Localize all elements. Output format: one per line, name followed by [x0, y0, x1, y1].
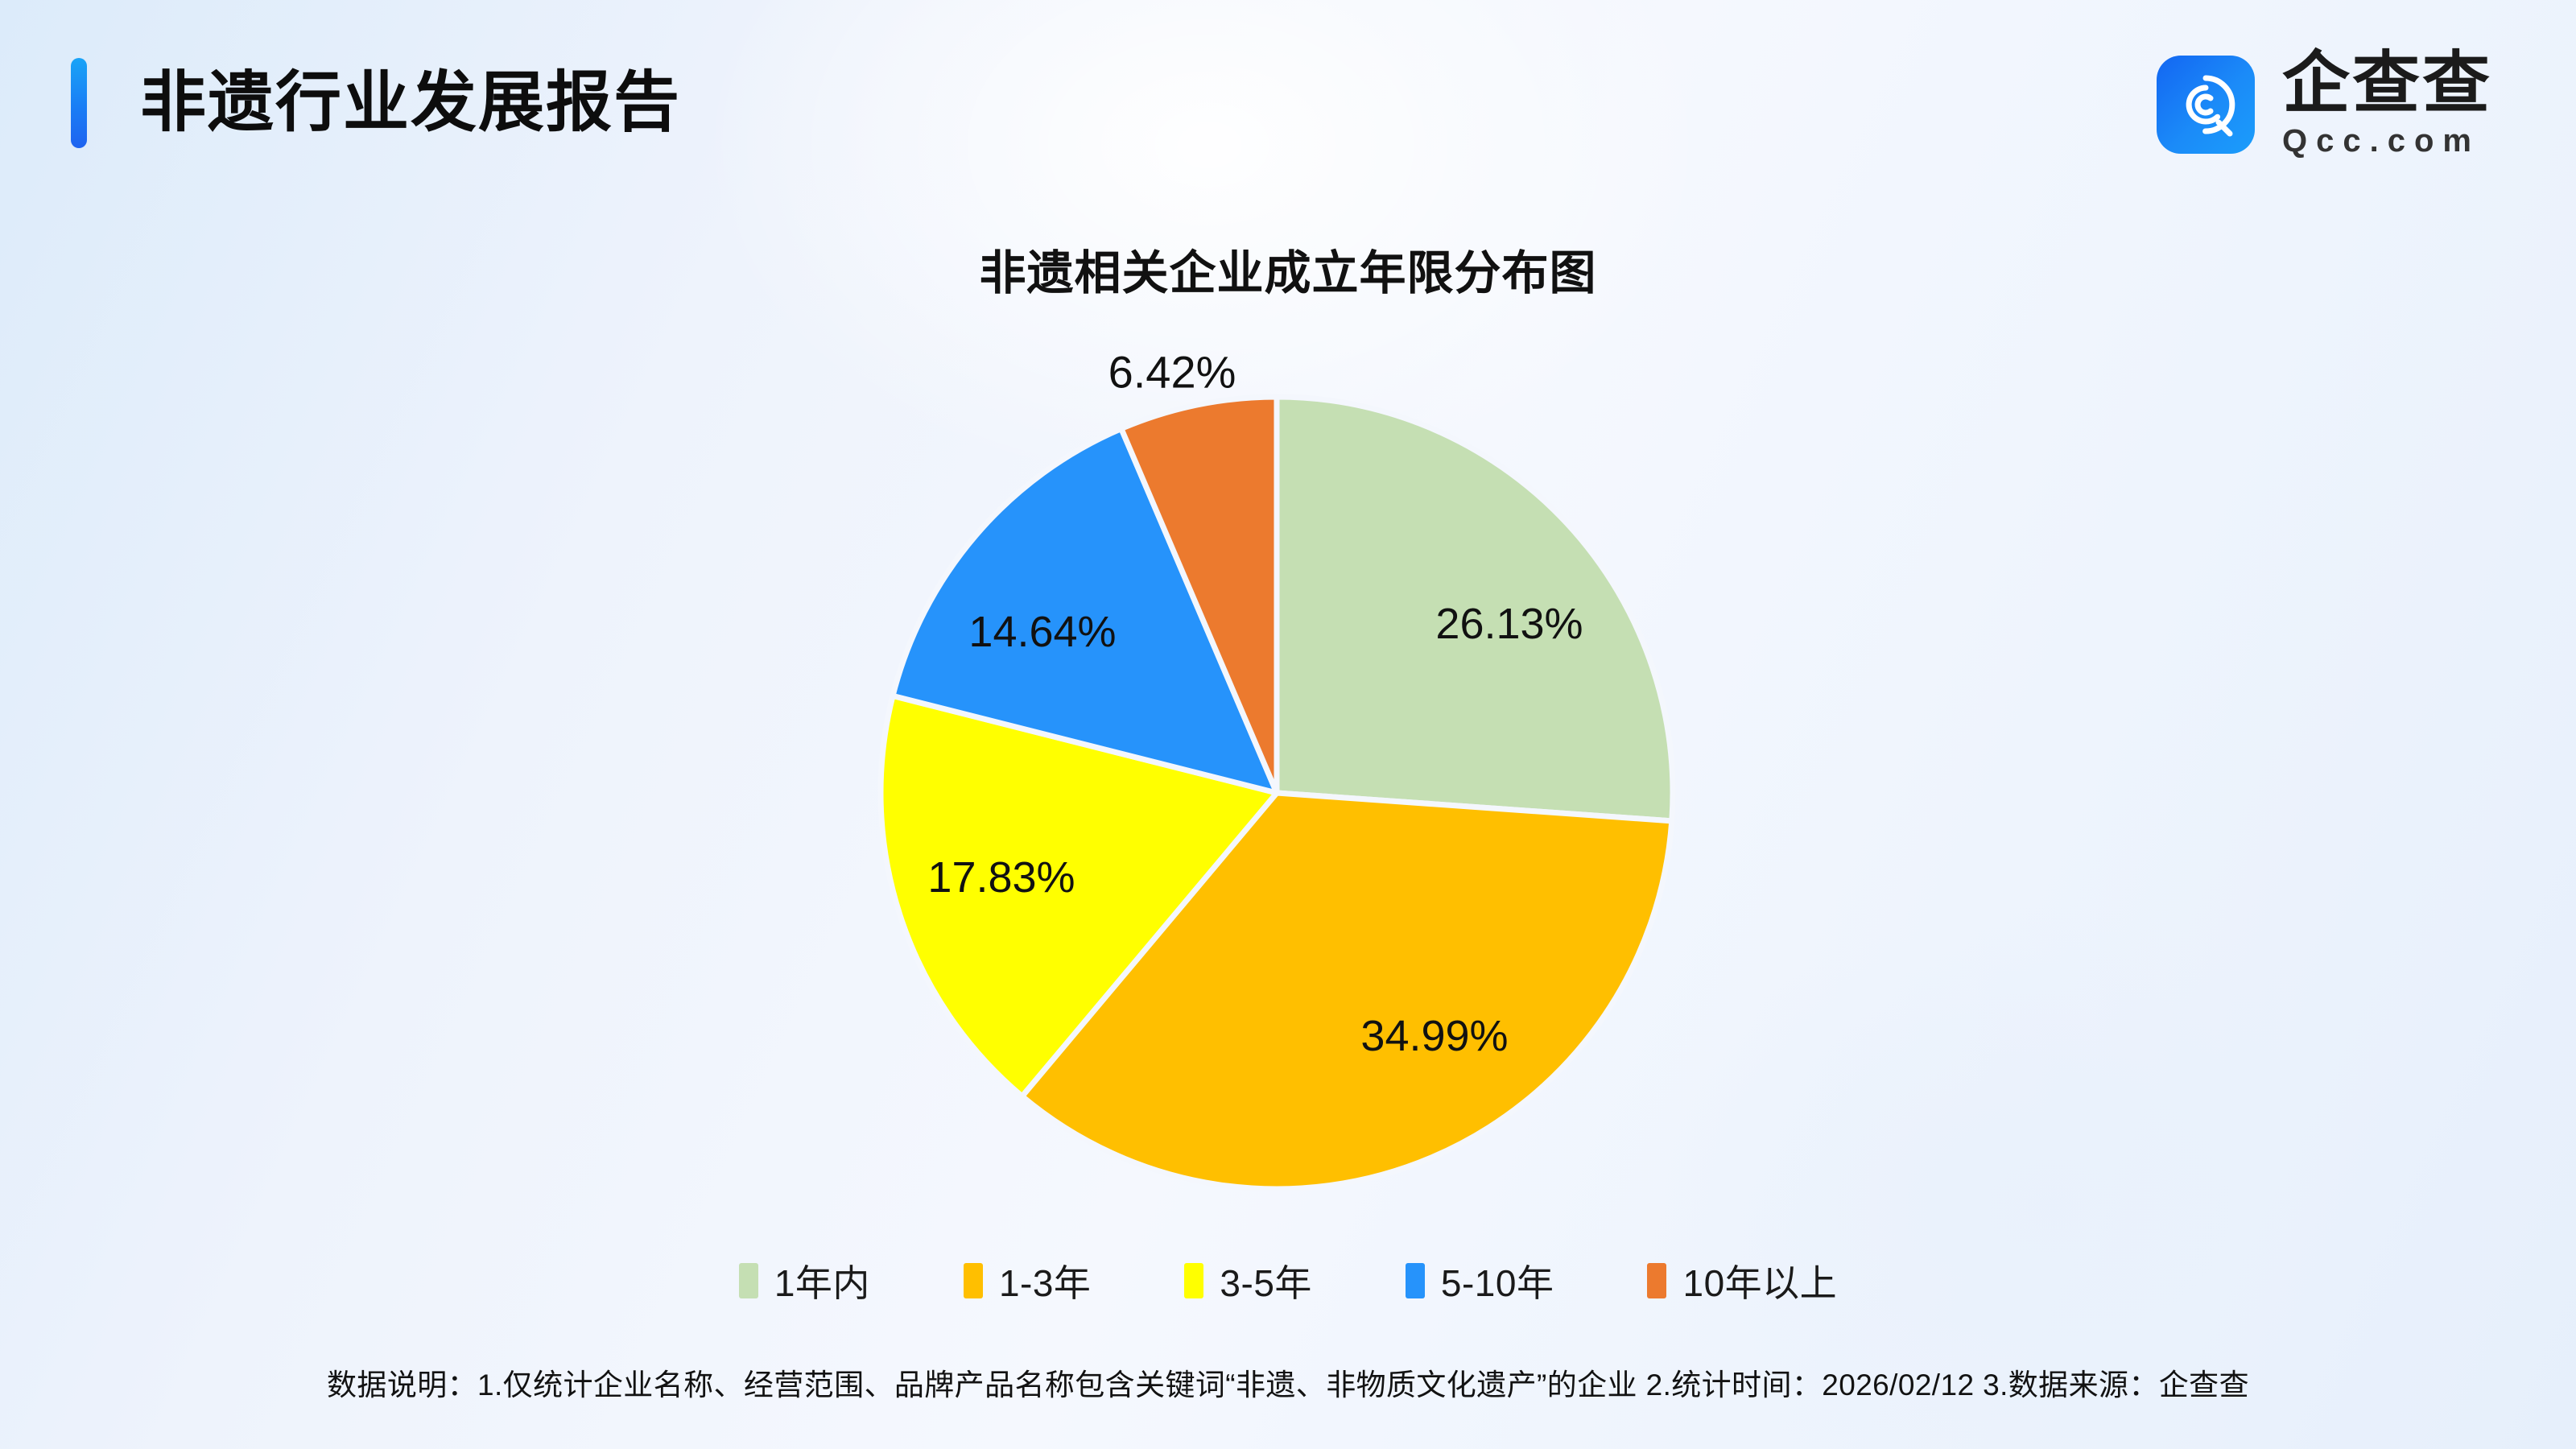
legend-item[interactable]: 5-10年 [1406, 1254, 1554, 1307]
legend-label: 1-3年 [999, 1254, 1091, 1307]
legend-label: 3-5年 [1220, 1254, 1311, 1307]
legend-label: 1年内 [774, 1254, 870, 1307]
legend-label: 10年以上 [1682, 1254, 1837, 1307]
legend-item[interactable]: 3-5年 [1184, 1254, 1311, 1307]
footer-note: 数据说明：1.仅统计企业名称、经营范围、品牌产品名称包含关键词“非遗、非物质文化… [0, 1360, 2576, 1404]
pie-chart: 26.13%34.99%17.83%14.64%6.42% [0, 306, 2576, 1272]
chart-legend: 1年内1-3年3-5年5-10年10年以上 [0, 1254, 2576, 1307]
legend-item[interactable]: 1年内 [739, 1254, 870, 1307]
pie-svg [829, 354, 1731, 1256]
brand-name-cn: 企查查 [2282, 50, 2492, 116]
page-title: 非遗行业发展报告 [140, 70, 681, 136]
legend-swatch-icon [1647, 1263, 1666, 1298]
brand-logo: 企查查 Qcc.com [2157, 48, 2492, 161]
brand-name-en: Qcc.com [2282, 123, 2492, 159]
qcc-logo-icon [2157, 56, 2255, 154]
pie-slice-label: 17.83% [927, 852, 1075, 902]
pie-slice-label: 34.99% [1360, 1011, 1508, 1061]
page-title-group: 非遗行业发展报告 [71, 58, 681, 148]
legend-label: 5-10年 [1441, 1254, 1554, 1307]
legend-item[interactable]: 1-3年 [964, 1254, 1091, 1307]
pie-slice-group [881, 397, 1673, 1189]
title-accent-bar [71, 58, 87, 148]
legend-swatch-icon [1184, 1263, 1203, 1298]
page-header: 非遗行业发展报告 企查查 Qcc.com [0, 0, 2576, 201]
pie-slice-label: 26.13% [1435, 599, 1583, 649]
chart-title: 非遗相关企业成立年限分布图 [0, 235, 2576, 303]
legend-swatch-icon [1406, 1263, 1425, 1298]
pie-slice-label: 6.42% [1108, 346, 1236, 398]
brand-wordmark: 企查查 Qcc.com [2282, 50, 2492, 159]
legend-item[interactable]: 10年以上 [1647, 1254, 1837, 1307]
legend-swatch-icon [964, 1263, 983, 1298]
legend-swatch-icon [739, 1263, 758, 1298]
pie-slice-label: 14.64% [968, 607, 1116, 657]
report-page: 非遗行业发展报告 企查查 Qcc.com 非遗相关企业成立年限分布图 [0, 0, 2576, 1449]
